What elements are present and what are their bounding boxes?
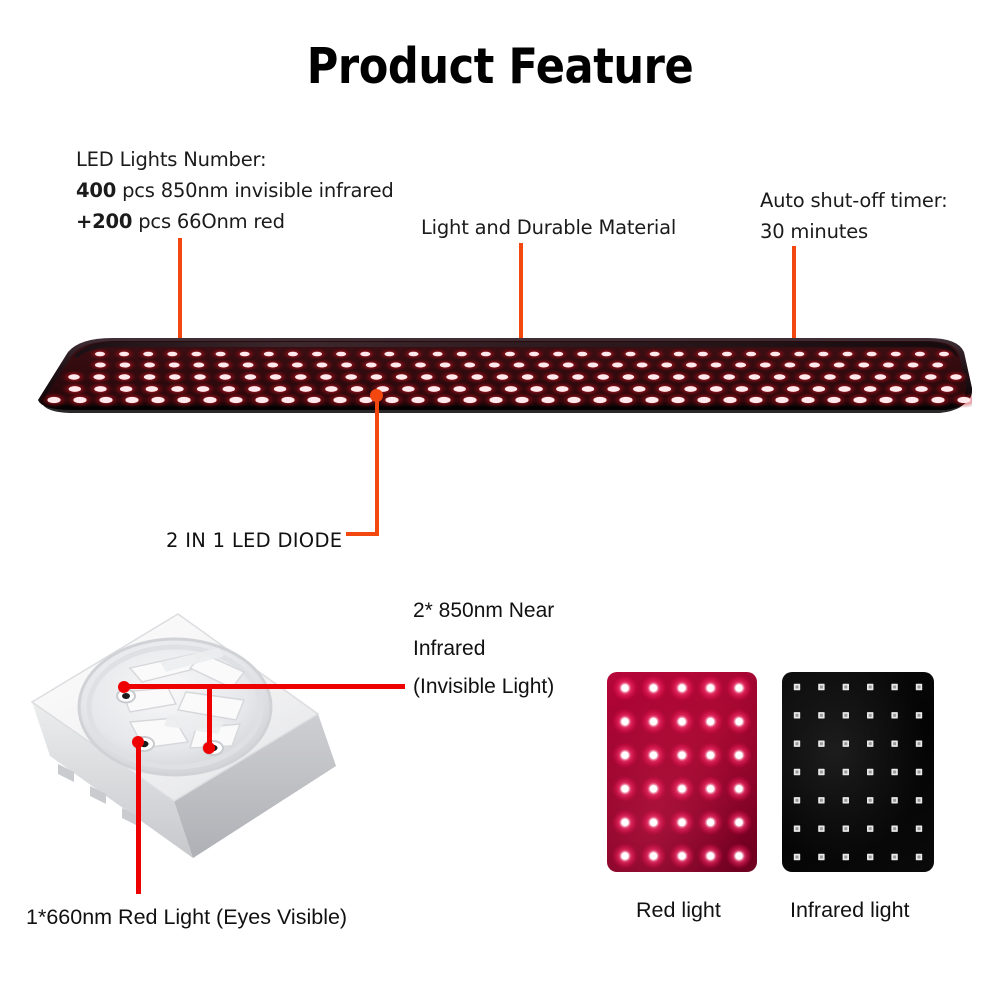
annotation-material: Light and Durable Material [421,212,676,243]
infrared-callout-line-1: 2* 850nm Near [413,592,554,630]
annotation-timer: Auto shut-off timer: 30 minutes [760,185,948,247]
infrared-callout-line-2: Infrared [413,630,554,668]
led-count-850nm-text: pcs 850nm invisible infrared [116,179,394,202]
callout-dot-infrared-b [203,742,215,754]
led-pad-product-image [28,330,972,422]
label-infrared-light: Infrared light [790,898,910,923]
timer-line-2: 30 minutes [760,216,948,247]
led-count-line-3: +200 pcs 66Onm red [76,206,394,237]
annotation-led-count: LED Lights Number: 400 pcs 850nm invisib… [76,144,394,237]
leader-line-2in1-horizontal [346,532,379,536]
panel-infrared-light [782,672,934,872]
callout-line-red-light [136,742,141,894]
led-diode-photo [18,596,368,896]
caption-red-light-callout: 1*660nm Red Light (Eyes Visible) [26,898,347,936]
timer-line-1: Auto shut-off timer: [760,185,948,216]
led-count-660nm-text: pcs 66Onm red [132,210,285,233]
panel-red-light-dots [607,672,757,872]
caption-infrared-callout: 2* 850nm Near Infrared (Invisible Light) [413,592,554,706]
material-label: Light and Durable Material [421,212,676,243]
led-pad-dot-grid [28,330,972,422]
leader-line-2in1-vertical [375,395,379,536]
label-red-light: Red light [636,898,721,923]
led-count-850nm-value: 400 [76,179,116,202]
label-2in1-led-diode: 2 IN 1 LED DIODE [166,522,342,560]
callout-line-infrared-branch [207,684,212,748]
panel-red-light [607,672,757,872]
led-count-line-2: 400 pcs 850nm invisible infrared [76,175,394,206]
page-title: Product Feature [60,38,940,95]
infographic-canvas: Product Feature LED Lights Number: 400 p… [0,0,1000,1000]
infrared-callout-line-3: (Invisible Light) [413,668,554,706]
callout-line-infrared-horizontal [122,684,405,689]
led-count-660nm-value: +200 [76,210,132,233]
panel-infrared-light-dots [782,672,934,872]
led-count-line-1: LED Lights Number: [76,144,394,175]
